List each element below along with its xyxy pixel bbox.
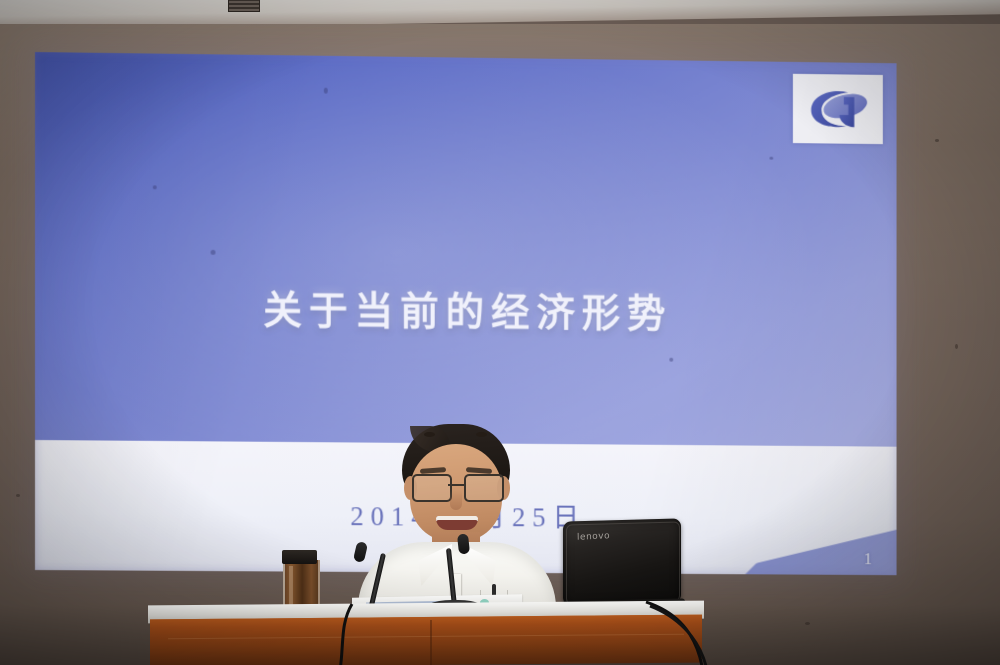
laptop-brand-label: lenovo	[577, 531, 610, 542]
floor-shadow	[0, 605, 1000, 665]
ceiling-vent-icon	[228, 0, 260, 12]
wall-mark	[935, 139, 939, 142]
glasses-bridge	[448, 484, 464, 486]
lens	[464, 474, 504, 502]
nose	[450, 490, 462, 510]
eye	[476, 432, 487, 437]
lens	[412, 474, 452, 502]
wall-mark	[955, 344, 958, 349]
mouth	[436, 516, 478, 530]
glass-lid	[282, 550, 317, 564]
photo-scene: 关于当前的经济形势 1 正 堂 2014年 月25日	[0, 0, 1000, 665]
mic-neck	[446, 548, 457, 606]
wall-mark	[16, 494, 20, 497]
eye	[424, 432, 435, 437]
mic-capsule	[457, 533, 470, 554]
